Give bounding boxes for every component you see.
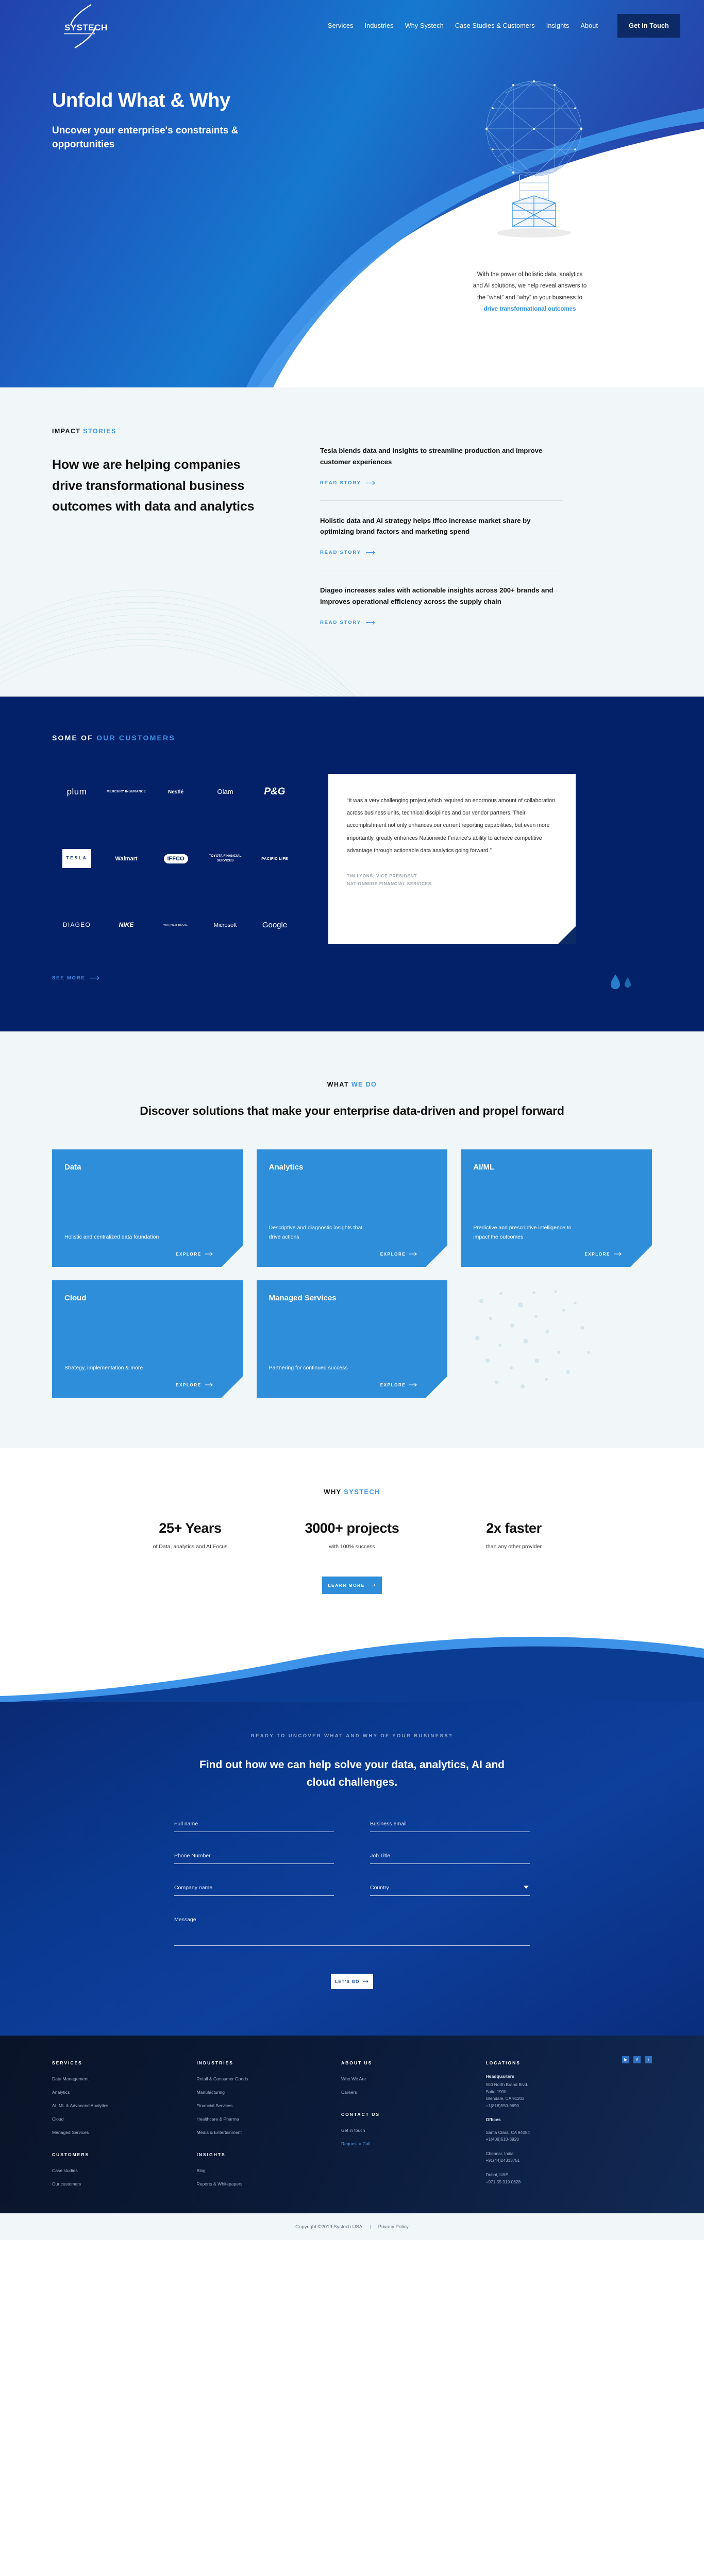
story-title: Diageo increases sales with actionable i… <box>320 585 562 607</box>
arrow-right-icon <box>614 1252 622 1256</box>
field-label: Company name <box>174 1885 334 1891</box>
cta-heading: Find out how we can help solve your data… <box>187 1756 517 1791</box>
card-description: Holistic and centralized data foundation <box>64 1232 167 1242</box>
field-country[interactable]: Country <box>370 1885 530 1896</box>
footer-column-locations: LOCATIONS Headquarters 500 North Brand B… <box>485 2060 652 2193</box>
footer-link[interactable]: Media & Entertainment <box>196 2130 241 2135</box>
field-message[interactable]: Message <box>174 1917 530 1946</box>
office-chennai: Chennai, India +91(44)24313751 <box>485 2150 652 2164</box>
footer-heading-contact-us: CONTACT US <box>341 2112 485 2117</box>
spacer <box>196 2141 341 2152</box>
wwd-eyebrow-plain: WHAT <box>327 1081 349 1088</box>
card-title: AI/ML <box>473 1163 640 1172</box>
field-label: Message <box>174 1917 530 1923</box>
stat-description: of Data, analytics and AI Focus <box>128 1544 252 1550</box>
offices-block: Offices <box>485 2117 652 2122</box>
stat-number: 25+ Years <box>128 1520 252 1536</box>
footer-link[interactable]: Retail & Consumer Goods <box>196 2076 248 2081</box>
what-we-do-heading: Discover solutions that make your enterp… <box>0 1101 704 1121</box>
field-full-name[interactable]: Full name <box>174 1821 334 1832</box>
explore-label: EXPLORE <box>584 1252 610 1257</box>
office-dubai: Dubai, UAE +971 55 919 0628 <box>485 2172 652 2185</box>
read-story-label: READ STORY <box>320 550 361 555</box>
customer-logo-microsoft: Microsoft <box>202 911 248 940</box>
explore-link[interactable]: EXPLORE <box>584 1252 622 1257</box>
field-underline <box>370 1863 530 1864</box>
stat-number: 3000+ projects <box>290 1520 414 1536</box>
card-title: Data <box>64 1163 231 1172</box>
footer-link[interactable]: Managed Services <box>52 2130 89 2135</box>
arrow-right-icon <box>409 1383 417 1387</box>
footer-link[interactable]: Our customers <box>52 2181 81 2187</box>
what-we-do-eyebrow: WHAT WE DO <box>0 1081 704 1088</box>
footer-list-insights: Blog Reports & Whitepapers <box>196 2165 341 2188</box>
office-city: Chennai, India <box>485 2150 652 2158</box>
water-drop-decoration <box>606 971 637 994</box>
stat-speed: 2x faster than any other provider <box>452 1520 576 1550</box>
customers-heading: SOME OF OUR CUSTOMERS <box>0 734 704 742</box>
read-story-link[interactable]: READ STORY <box>320 550 376 555</box>
why-eyebrow-accent: SYSTECH <box>344 1488 380 1496</box>
impact-eyebrow-plain: IMPACT <box>52 428 80 435</box>
separator: | <box>370 2224 371 2230</box>
hero-para-line3: the “what” and “why” in your business to <box>477 295 582 301</box>
footer-link[interactable]: Get in touch <box>341 2128 365 2133</box>
dots-decoration-cell <box>461 1280 652 1401</box>
stat-number: 2x faster <box>452 1520 576 1536</box>
what-we-do-section: WHAT WE DO Discover solutions that make … <box>0 1031 704 1448</box>
nav-links: Services Industries Why Systech Case Stu… <box>328 14 680 38</box>
read-story-link[interactable]: READ STORY <box>320 620 376 625</box>
solution-cards-row-1: Data Holistic and centralized data found… <box>0 1149 704 1267</box>
footer-link[interactable]: Careers <box>341 2090 357 2095</box>
svg-text:SYSTECH: SYSTECH <box>64 23 108 32</box>
footer-link[interactable]: Manufacturing <box>196 2090 224 2095</box>
arrow-right-icon <box>90 976 100 980</box>
story-item[interactable]: Tesla blends data and insights to stream… <box>320 431 562 500</box>
field-company-name[interactable]: Company name <box>174 1885 334 1896</box>
footer-link[interactable]: Data Management <box>52 2076 89 2081</box>
impact-content: IMPACT STORIES How we are helping compan… <box>0 428 704 640</box>
footer-link[interactable]: Who We Are <box>341 2076 366 2081</box>
see-more-link[interactable]: SEE MORE <box>52 975 100 981</box>
why-eyebrow: WHY SYSTECH <box>0 1488 704 1496</box>
form-row: Phone Number Job Title <box>174 1853 530 1864</box>
get-in-touch-button[interactable]: Get In Touch <box>617 14 680 38</box>
facebook-icon[interactable]: f <box>633 2056 641 2063</box>
hero-section: SYSTECH Services Industries Why Systech … <box>0 0 704 387</box>
footer-list-services: Data Management Analytics AI, ML & Advan… <box>52 2074 196 2137</box>
footer-heading-about-us: ABOUT US <box>341 2060 485 2065</box>
learn-more-button[interactable]: LEARN MORE <box>322 1577 382 1594</box>
office-city: Santa Clara, CA 94054 <box>485 2129 652 2137</box>
cta-kicker: READY TO UNCOVER WHAT AND WHY OF YOUR BU… <box>0 1733 704 1739</box>
site-footer: in f t SERVICES Data Management Analytic… <box>0 2036 704 2213</box>
customer-logo-toyota-financial-services: TOYOTA FINANCIAL SERVICES <box>202 844 248 873</box>
submit-button[interactable]: LET'S GO <box>331 1974 373 1989</box>
customer-logo-warner-bros: WARNER BROS. <box>153 911 199 940</box>
footer-list-customers: Case studies Our customers <box>52 2165 196 2188</box>
field-underline <box>370 1832 530 1832</box>
explore-label: EXPLORE <box>176 1252 202 1257</box>
solution-card-data[interactable]: Data Holistic and centralized data found… <box>52 1149 243 1267</box>
wwd-eyebrow-accent: WE DO <box>351 1081 377 1088</box>
card-description: Predictive and prescriptive intelligence… <box>473 1223 576 1242</box>
hero-subtitle: Uncover your enterprise's constraints & … <box>52 124 269 152</box>
customer-logo-tesla: TESLA <box>54 844 100 873</box>
privacy-policy-link[interactable]: Privacy Policy <box>378 2224 409 2230</box>
linkedin-icon[interactable]: in <box>622 2056 629 2063</box>
impact-eyebrow-accent: STORIES <box>83 428 116 435</box>
card-title: Managed Services <box>269 1294 435 1302</box>
office-city: Dubai, UAE <box>485 2172 652 2179</box>
copyright-bar: Copyright ©2019 Systech USA | Privacy Po… <box>0 2213 704 2240</box>
main-navigation: SYSTECH Services Industries Why Systech … <box>0 0 704 42</box>
office-santa-clara: Santa Clara, CA 94054 +1(408)610-3920 <box>485 2129 652 2143</box>
footer-heading-customers: CUSTOMERS <box>52 2152 196 2157</box>
location-headquarters: Headquarters 500 North Brand Blvd. Suite… <box>485 2074 652 2109</box>
customer-logo-olam: Olam <box>202 777 248 806</box>
spacer <box>341 2100 485 2112</box>
submit-label: LET'S GO <box>335 1979 359 1984</box>
card-description: Strategy, implementation & more <box>64 1363 167 1372</box>
arrow-right-icon <box>205 1252 213 1256</box>
story-item[interactable]: Diageo increases sales with actionable i… <box>320 570 562 640</box>
footer-link[interactable]: Cloud <box>52 2116 63 2122</box>
stat-projects: 3000+ projects with 100% success <box>290 1520 414 1550</box>
testimonial-author: TIM LYONS; VICE PRESIDENT <box>347 872 557 880</box>
footer-link[interactable]: Reports & Whitepapers <box>196 2181 242 2187</box>
spacer <box>52 2141 196 2152</box>
arrow-right-icon <box>363 1980 369 1983</box>
field-underline <box>174 1863 334 1864</box>
read-story-label: READ STORY <box>320 620 361 625</box>
impact-stories-section: IMPACT STORIES How we are helping compan… <box>0 387 704 697</box>
customer-logo-iffco: IFFCO <box>153 844 199 873</box>
customer-logo-google: Google <box>252 911 298 940</box>
testimonial-quote: “It was a very challenging project which… <box>347 794 557 857</box>
solution-card-analytics[interactable]: Analytics Descriptive and diagnostic ins… <box>257 1149 448 1267</box>
form-row: Full name Business email <box>174 1821 530 1832</box>
arrow-right-icon <box>409 1252 417 1256</box>
story-title: Tesla blends data and insights to stream… <box>320 445 562 468</box>
customers-heading-plain: SOME OF <box>52 734 93 742</box>
form-row: Company name Country <box>174 1885 530 1896</box>
stats-row: 25+ Years of Data, analytics and AI Focu… <box>0 1520 704 1550</box>
twitter-icon[interactable]: t <box>645 2056 652 2063</box>
field-business-email[interactable]: Business email <box>370 1821 530 1832</box>
footer-columns: SERVICES Data Management Analytics AI, M… <box>52 2060 652 2193</box>
footer-link[interactable]: Financial Services <box>196 2103 232 2108</box>
contact-form: Full name Business email Phone Number Jo… <box>174 1821 530 1989</box>
hero-para-line2: and AI solutions, we help reveal answers… <box>473 283 587 289</box>
nav-item-services[interactable]: Services <box>328 22 354 29</box>
impact-eyebrow: IMPACT STORIES <box>52 428 274 435</box>
explore-link[interactable]: EXPLORE <box>380 1252 418 1257</box>
footer-list-industries: Retail & Consumer Goods Manufacturing Fi… <box>196 2074 341 2137</box>
arrow-right-icon <box>366 550 376 555</box>
why-systech-section: WHY SYSTECH 25+ Years of Data, analytics… <box>0 1448 704 1702</box>
testimonial-card: “It was a very challenging project which… <box>328 774 576 944</box>
hero-para-accent: drive transformational outcomes <box>484 306 576 312</box>
nav-item-about[interactable]: About <box>580 22 598 29</box>
field-underline <box>174 1945 530 1946</box>
hq-label: Headquarters <box>485 2074 652 2079</box>
read-story-link[interactable]: READ STORY <box>320 480 376 486</box>
social-links: in f t <box>622 2056 652 2063</box>
explore-label: EXPLORE <box>380 1252 406 1257</box>
why-eyebrow-plain: WHY <box>324 1488 341 1496</box>
learn-more-label: LEARN MORE <box>328 1583 364 1588</box>
hq-address: 500 North Brand Blvd. Suite 1900 Glendal… <box>485 2081 652 2109</box>
systech-logo[interactable]: SYSTECH <box>52 3 114 49</box>
footer-list-contact: Get in touch Request a Call <box>341 2125 485 2148</box>
field-label: Full name <box>174 1821 334 1827</box>
solution-card-ai-ml[interactable]: AI/ML Predictive and prescriptive intell… <box>461 1149 652 1267</box>
footer-link[interactable]: Analytics <box>52 2090 70 2095</box>
see-more-label: SEE MORE <box>52 975 86 981</box>
customers-heading-accent: OUR CUSTOMERS <box>96 734 175 742</box>
solution-card-managed-services[interactable]: Managed Services Partnering for continue… <box>257 1280 448 1398</box>
footer-link-request-a-call[interactable]: Request a Call <box>341 2141 370 2146</box>
hero-title: Unfold What & Why <box>52 90 704 112</box>
footer-column-industries: INDUSTRIES Retail & Consumer Goods Manuf… <box>196 2060 341 2193</box>
card-title: Cloud <box>64 1294 231 1302</box>
dot-pattern-decoration <box>461 1280 631 1399</box>
field-phone-number[interactable]: Phone Number <box>174 1853 334 1864</box>
customer-logo-grid: plum MERCURY INSURANCE Nestlé Olam P&G T… <box>52 774 299 944</box>
field-job-title[interactable]: Job Title <box>370 1853 530 1864</box>
field-underline <box>174 1832 334 1832</box>
footer-link[interactable]: Healthcare & Pharma <box>196 2116 239 2122</box>
footer-link[interactable]: Blog <box>196 2168 205 2173</box>
customer-logo-diageo: DIAGEO <box>54 911 100 940</box>
copyright-text: Copyright ©2019 Systech USA <box>295 2224 362 2230</box>
office-phone: +91(44)24313751 <box>485 2157 652 2164</box>
customer-logo-walmart: Walmart <box>103 844 149 873</box>
field-underline <box>370 1895 530 1896</box>
hero-copy: Unfold What & Why Uncover your enterpris… <box>0 42 704 152</box>
solution-cards-row-2: Cloud Strategy, implementation & more EX… <box>0 1280 704 1401</box>
footer-link[interactable]: AI, ML & Advanced Analytics <box>52 2103 108 2108</box>
story-title: Holistic data and AI strategy helps Iffc… <box>320 515 562 538</box>
offices-label: Offices <box>485 2117 652 2122</box>
testimonial-company: NATIONWIDE FINANCIAL SERVICES <box>347 880 557 888</box>
field-underline <box>174 1895 334 1896</box>
contact-cta-section: READY TO UNCOVER WHAT AND WHY OF YOUR BU… <box>0 1702 704 2036</box>
section-wave-divider <box>0 1625 704 1702</box>
footer-column-services: SERVICES Data Management Analytics AI, M… <box>52 2060 196 2193</box>
footer-column-about: ABOUT US Who We Are Careers CONTACT US G… <box>341 2060 485 2193</box>
nav-item-case-studies[interactable]: Case Studies & Customers <box>455 22 535 29</box>
impact-title: How we are helping companies drive trans… <box>52 454 274 517</box>
card-description: Partnering for continued success <box>269 1363 372 1372</box>
footer-heading-insights: INSIGHTS <box>196 2152 341 2157</box>
solution-card-cloud[interactable]: Cloud Strategy, implementation & more EX… <box>52 1280 243 1398</box>
testimonial-attribution: TIM LYONS; VICE PRESIDENT NATIONWIDE FIN… <box>347 872 557 888</box>
explore-link[interactable]: EXPLORE <box>176 1252 213 1257</box>
stat-description: with 100% success <box>290 1544 414 1550</box>
explore-link[interactable]: EXPLORE <box>380 1383 418 1387</box>
field-label: Phone Number <box>174 1853 334 1859</box>
explore-label: EXPLORE <box>380 1383 406 1387</box>
stat-description: than any other provider <box>452 1544 576 1550</box>
field-label: Job Title <box>370 1853 530 1859</box>
page-root: SYSTECH Services Industries Why Systech … <box>0 0 704 2240</box>
customer-logo-plum: plum <box>54 777 100 806</box>
customer-logo-pacific-life: PACIFIC LIFE <box>252 844 298 873</box>
card-title: Analytics <box>269 1163 435 1172</box>
nav-item-why-systech[interactable]: Why Systech <box>405 22 444 29</box>
card-corner-decoration <box>558 926 576 944</box>
customer-logo-nestle: Nestlé <box>153 777 199 806</box>
hero-side-paragraph: With the power of holistic data, analyti… <box>432 269 628 315</box>
chevron-down-icon[interactable] <box>524 1886 529 1889</box>
field-label: Business email <box>370 1821 530 1827</box>
customers-body: plum MERCURY INSURANCE Nestlé Olam P&G T… <box>0 774 704 944</box>
footer-heading-services: SERVICES <box>52 2060 196 2065</box>
nav-item-insights[interactable]: Insights <box>546 22 569 29</box>
footer-heading-industries: INDUSTRIES <box>196 2060 341 2065</box>
customer-logo-pg: P&G <box>252 777 298 806</box>
field-label: Country <box>370 1885 530 1891</box>
story-item[interactable]: Holistic data and AI strategy helps Iffc… <box>320 500 562 570</box>
arrow-right-icon <box>366 620 376 625</box>
nav-item-industries[interactable]: Industries <box>365 22 394 29</box>
impact-story-list: Tesla blends data and insights to stream… <box>320 428 562 640</box>
arrow-right-icon <box>366 481 376 485</box>
explore-label: EXPLORE <box>176 1383 202 1387</box>
hero-para-line1: With the power of holistic data, analyti… <box>477 272 583 278</box>
see-more-container: SEE MORE <box>0 973 704 982</box>
office-phone: +1(408)610-3920 <box>485 2136 652 2143</box>
customers-section: SOME OF OUR CUSTOMERS plum MERCURY INSUR… <box>0 697 704 1031</box>
office-phone: +971 55 919 0628 <box>485 2179 652 2186</box>
impact-left-column: IMPACT STORIES How we are helping compan… <box>52 428 274 640</box>
card-description: Descriptive and diagnostic insights that… <box>269 1223 372 1242</box>
footer-list-about: Who We Are Careers <box>341 2074 485 2096</box>
stat-years: 25+ Years of Data, analytics and AI Focu… <box>128 1520 252 1550</box>
customer-logo-nike: NIKE <box>103 911 149 940</box>
arrow-right-icon <box>205 1383 213 1387</box>
footer-link[interactable]: Case studies <box>52 2168 78 2173</box>
explore-link[interactable]: EXPLORE <box>176 1383 213 1387</box>
read-story-label: READ STORY <box>320 480 361 486</box>
customer-logo-mercury-insurance: MERCURY INSURANCE <box>103 777 149 806</box>
arrow-right-icon <box>369 1583 376 1587</box>
